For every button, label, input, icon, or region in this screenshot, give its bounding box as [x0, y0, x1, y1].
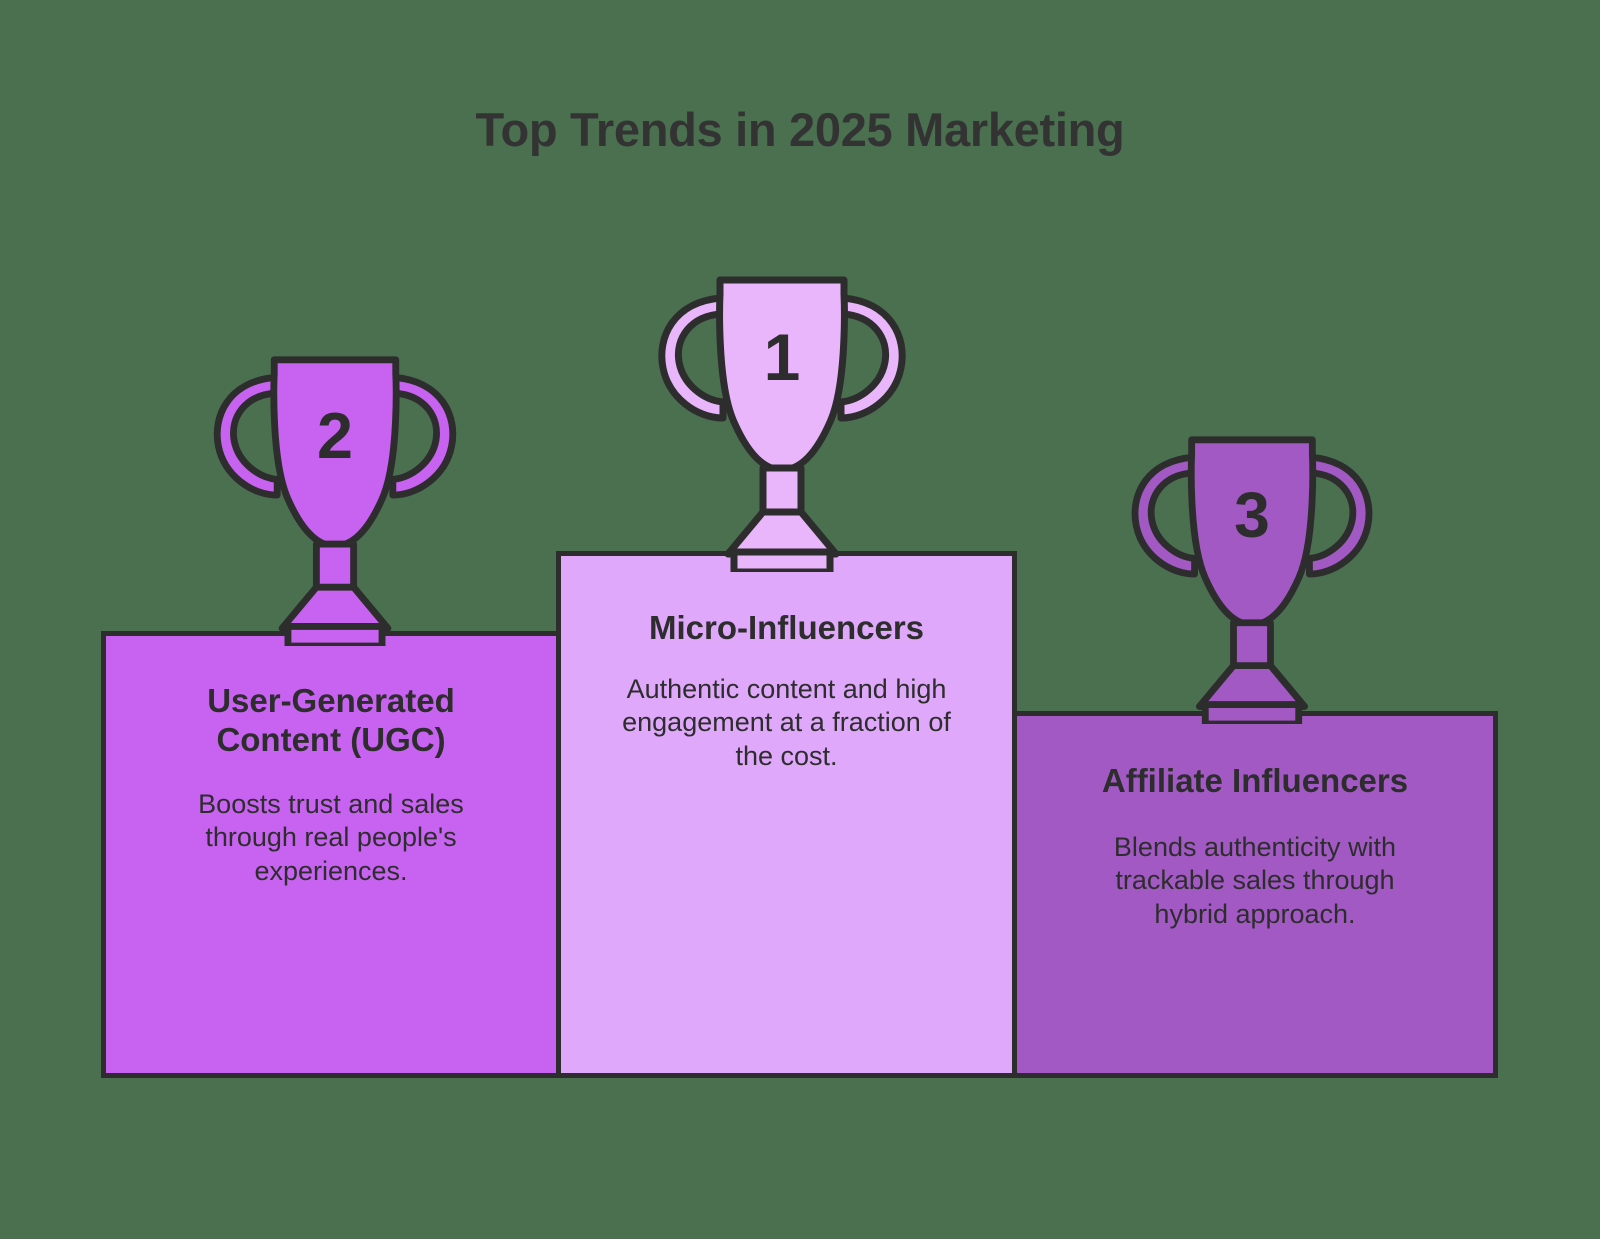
page-title: Top Trends in 2025 Marketing [0, 104, 1600, 156]
podium-block-first[interactable]: Micro-Influencers Authentic content and … [556, 551, 1017, 1078]
podium-title-second: User-Generated Content (UGC) [146, 682, 516, 760]
trophy-rank-first: 1 [764, 320, 801, 394]
trophy-icon: 3 [1128, 432, 1376, 724]
trophy-second[interactable]: 2 [208, 352, 462, 646]
trophy-icon: 1 [655, 272, 909, 572]
trophy-rank-second: 2 [317, 399, 353, 472]
podium-description-second: Boosts trust and sales through real peop… [166, 788, 496, 888]
podium-block-third[interactable]: Affiliate Influencers Blends authenticit… [1012, 711, 1498, 1078]
trophy-third[interactable]: 3 [1128, 432, 1376, 724]
trophy-rank-third: 3 [1234, 479, 1270, 551]
podium-block-second[interactable]: User-Generated Content (UGC) Boosts trus… [101, 631, 561, 1078]
podium-title-third: Affiliate Influencers [1090, 762, 1420, 801]
trophy-icon: 2 [208, 352, 462, 646]
podium-description-first: Authentic content and high engagement at… [622, 673, 952, 773]
podium-description-third: Blends authenticity with trackable sales… [1075, 831, 1435, 931]
podium-title-first: Micro-Influencers [587, 609, 987, 648]
infographic-canvas: Top Trends in 2025 Marketing User-Genera… [0, 0, 1600, 1239]
trophy-first[interactable]: 1 [655, 272, 909, 572]
